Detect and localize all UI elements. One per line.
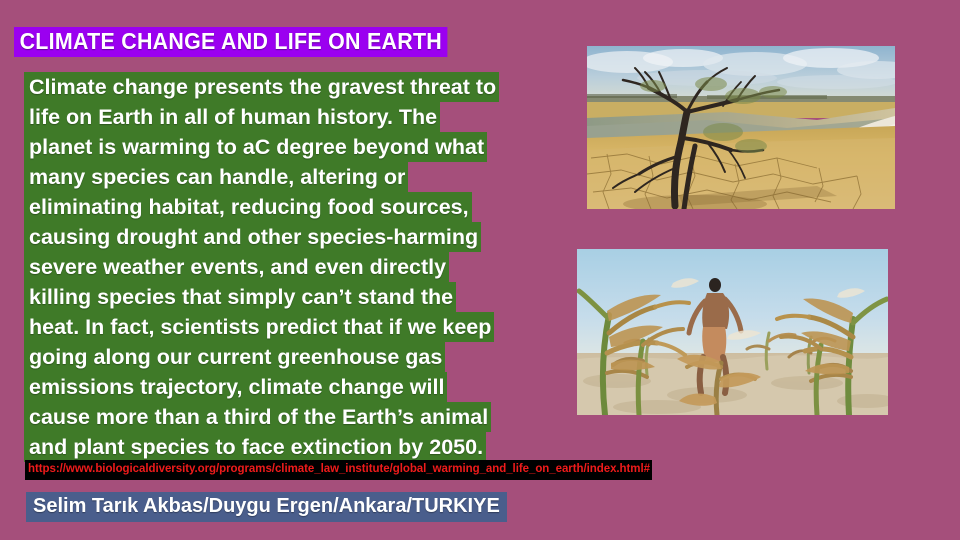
source-url-link[interactable]: https://www.biologicaldiversity.org/prog… — [25, 459, 652, 480]
source-url-text[interactable]: https://www.biologicaldiversity.org/prog… — [25, 460, 652, 480]
body-line-text: planet is warming to aC degree beyond wh… — [24, 132, 487, 162]
body-line-text: heat. In fact, scientists predict that i… — [24, 312, 494, 342]
body-line-text: many species can handle, altering or — [24, 162, 408, 192]
body-line-text: Climate change presents the gravest thre… — [24, 72, 499, 102]
body-line: severe weather events, and even directly — [24, 252, 544, 282]
body-line: causing drought and other species-harmin… — [24, 222, 544, 252]
body-line-text: cause more than a third of the Earth’s a… — [24, 402, 491, 432]
slide-canvas: CLIMATE CHANGE AND LIFE ON EARTH Climate… — [0, 0, 960, 540]
body-line: emissions trajectory, climate change wil… — [24, 372, 544, 402]
body-line-text: killing species that simply can’t stand … — [24, 282, 456, 312]
body-paragraph: Climate change presents the gravest thre… — [24, 72, 544, 462]
body-line: eliminating habitat, reducing food sourc… — [24, 192, 544, 222]
body-line: killing species that simply can’t stand … — [24, 282, 544, 312]
body-line: life on Earth in all of human history. T… — [24, 102, 544, 132]
body-line-text: severe weather events, and even directly — [24, 252, 449, 282]
body-line-text: life on Earth in all of human history. T… — [24, 102, 440, 132]
body-line-text: emissions trajectory, climate change wil… — [24, 372, 447, 402]
body-line: many species can handle, altering or — [24, 162, 544, 192]
drought-tree-image — [587, 46, 895, 209]
body-line: going along our current greenhouse gas — [24, 342, 544, 372]
body-line-text: going along our current greenhouse gas — [24, 342, 445, 372]
body-line: cause more than a third of the Earth’s a… — [24, 402, 544, 432]
author-credit: Selim Tarık Akbas/Duygu Ergen/Ankara/TUR… — [26, 492, 507, 522]
author-credit-text: Selim Tarık Akbas/Duygu Ergen/Ankara/TUR… — [26, 492, 507, 522]
body-line: heat. In fact, scientists predict that i… — [24, 312, 544, 342]
body-line: Climate change presents the gravest thre… — [24, 72, 544, 102]
body-line: planet is warming to aC degree beyond wh… — [24, 132, 544, 162]
body-line-text: eliminating habitat, reducing food sourc… — [24, 192, 472, 222]
body-line-text: causing drought and other species-harmin… — [24, 222, 481, 252]
body-line: and plant species to face extinction by … — [24, 432, 544, 462]
page-title-text: CLIMATE CHANGE AND LIFE ON EARTH — [14, 27, 448, 57]
withered-crops-image — [577, 249, 888, 415]
page-title: CLIMATE CHANGE AND LIFE ON EARTH — [14, 27, 480, 57]
body-line-text: and plant species to face extinction by … — [24, 432, 486, 462]
